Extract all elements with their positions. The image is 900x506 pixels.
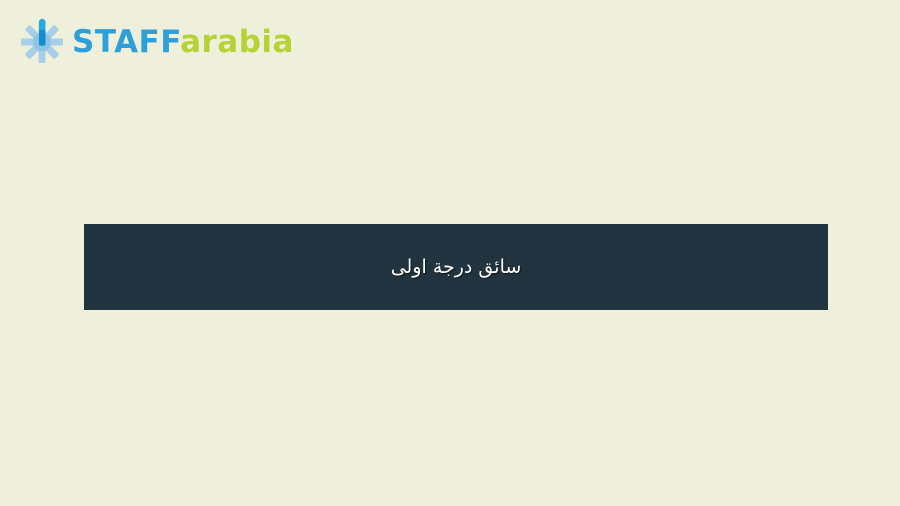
brand-wordmark: STAFFarabia [72, 21, 294, 63]
snowflake-asterisk-icon [18, 18, 66, 66]
title-banner: سائق درجة اولى [84, 224, 828, 310]
title-banner-text: سائق درجة اولى [391, 255, 522, 280]
brand-logo[interactable]: STAFFarabia [18, 18, 268, 66]
brand-wordmark-staff: STAFF [72, 24, 180, 60]
slide-canvas: STAFFarabia سائق درجة اولى [0, 0, 900, 506]
brand-wordmark-arabia: arabia [180, 24, 294, 60]
